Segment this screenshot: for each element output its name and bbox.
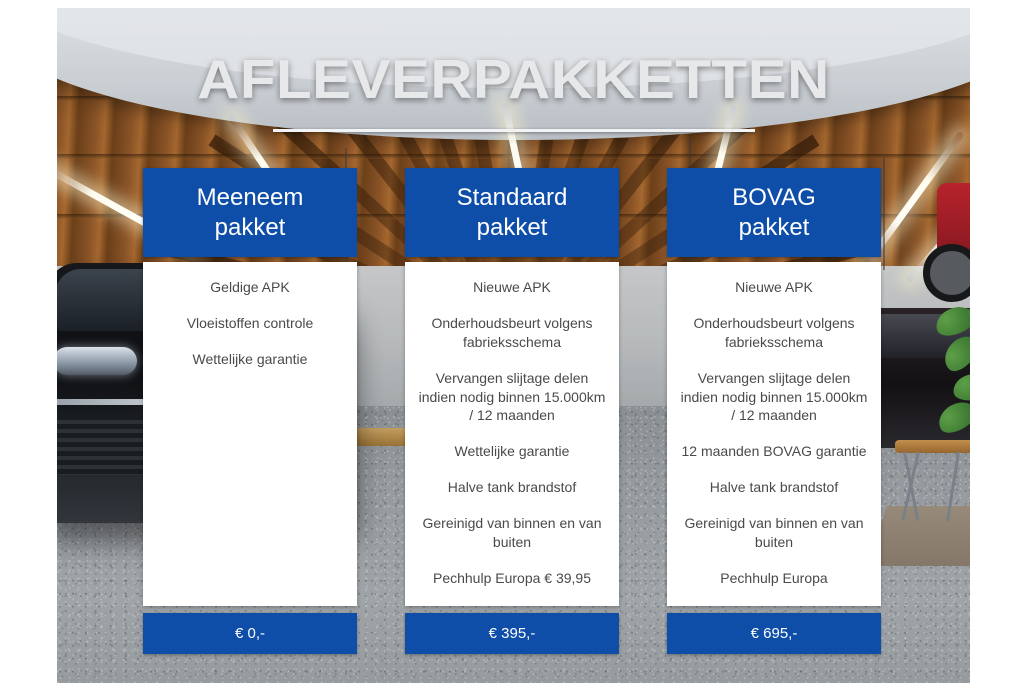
card-title-line2: pakket [215, 214, 286, 241]
card-title-line1: BOVAG [732, 184, 816, 211]
card-title-line1: Meeneem [197, 184, 304, 211]
card-price[interactable]: € 0,- [143, 613, 357, 654]
card-feature-list: Geldige APKVloeistoffen controleWettelij… [143, 262, 357, 606]
card-feature-item: Gereinigd van binnen en van buiten [417, 514, 607, 552]
card-title-line2: pakket [477, 214, 548, 241]
card-feature-item: Pechhulp Europa € 39,95 [417, 569, 607, 588]
package-card-bovag[interactable]: BOVAG pakket Nieuwe APKOnderhoudsbeurt v… [667, 168, 881, 654]
card-feature-item: 12 maanden BOVAG garantie [679, 442, 869, 461]
card-feature-item: Geldige APK [155, 278, 345, 297]
card-price[interactable]: € 395,- [405, 613, 619, 654]
card-feature-item: Pechhulp Europa [679, 569, 869, 588]
card-feature-item: Onderhoudsbeurt volgens fabrieksschema [417, 314, 607, 352]
card-header: Meeneem pakket [143, 168, 357, 257]
card-price[interactable]: € 695,- [667, 613, 881, 654]
card-feature-list: Nieuwe APKOnderhoudsbeurt volgens fabrie… [667, 262, 881, 606]
card-feature-item: Gereinigd van binnen en van buiten [679, 514, 869, 552]
card-feature-item: Nieuwe APK [417, 278, 607, 297]
card-feature-item: Halve tank brandstof [417, 478, 607, 497]
package-card-standaard[interactable]: Standaard pakket Nieuwe APKOnderhoudsbeu… [405, 168, 619, 654]
card-feature-item: Nieuwe APK [679, 278, 869, 297]
card-feature-item: Onderhoudsbeurt volgens fabrieksschema [679, 314, 869, 352]
card-feature-item: Wettelijke garantie [417, 442, 607, 461]
card-header: Standaard pakket [405, 168, 619, 257]
card-feature-list: Nieuwe APKOnderhoudsbeurt volgens fabrie… [405, 262, 619, 606]
card-header: BOVAG pakket [667, 168, 881, 257]
package-cards: Meeneem pakket Geldige APKVloeistoffen c… [0, 0, 1024, 683]
promo-slide: AFLEVERPAKKETTEN Meeneem pakket Geldige … [0, 0, 1024, 683]
card-title-line1: Standaard [457, 184, 568, 211]
card-feature-item: Vloeistoffen controle [155, 314, 345, 333]
package-card-meeneem[interactable]: Meeneem pakket Geldige APKVloeistoffen c… [143, 168, 357, 654]
card-title-line2: pakket [739, 214, 810, 241]
card-feature-item: Wettelijke garantie [155, 350, 345, 369]
card-feature-item: Vervangen slijtage delen indien nodig bi… [679, 369, 869, 426]
card-feature-item: Vervangen slijtage delen indien nodig bi… [417, 369, 607, 426]
card-feature-item: Halve tank brandstof [679, 478, 869, 497]
